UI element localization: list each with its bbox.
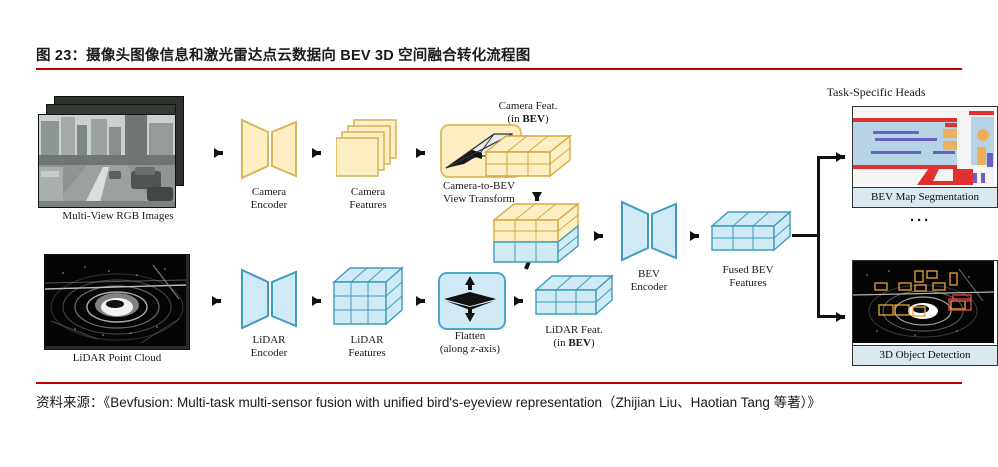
arrow-bev-encoder-to-fused bbox=[690, 231, 698, 241]
camera-bev-feature-slab bbox=[484, 134, 576, 184]
arrow-fusion-to-bev-encoder bbox=[594, 231, 602, 241]
label-multi-view-rgb-images: Multi-View RGB Images bbox=[36, 210, 200, 223]
heads-ellipsis: ··· bbox=[910, 212, 931, 229]
source-divider-rule bbox=[36, 382, 962, 384]
label-lidar-point-cloud: LiDAR Point Cloud bbox=[36, 352, 198, 365]
arrow-to-bev-map-segmentation bbox=[836, 152, 844, 162]
label-flatten: Flatten (along z-axis) bbox=[422, 330, 518, 355]
lidar-point-cloud-image bbox=[44, 254, 190, 350]
label-task-specific-heads: Task-Specific Heads bbox=[788, 86, 964, 99]
arrow-lidar-encoder-to-features bbox=[312, 296, 320, 306]
label-bev-encoder: BEV Encoder bbox=[612, 268, 686, 293]
arrow-to-3d-object-detection bbox=[836, 312, 844, 322]
fused-bev-features-slab bbox=[710, 210, 794, 258]
head-3d-object-detection: 3D Object Detection bbox=[852, 260, 998, 366]
caption-bev-map-segmentation: BEV Map Segmentation bbox=[853, 187, 997, 207]
camera-features-stack bbox=[336, 118, 402, 180]
head-bev-map-segmentation: BEV Map Segmentation bbox=[852, 106, 998, 208]
bev-encoder-icon bbox=[620, 200, 678, 262]
arrow-flatten-to-lidar-bev-feat bbox=[514, 296, 522, 306]
figure-page: 图 23：摄像头图像信息和激光雷达点云数据向 BEV 3D 空间融合转化流程图 bbox=[0, 0, 998, 467]
label-lidar-feat-in-bev: LiDAR Feat. (in BEV) bbox=[514, 324, 634, 349]
connector-stem bbox=[792, 234, 820, 237]
lidar-bev-feature-slab bbox=[534, 274, 616, 322]
arrow-camera-bev-feat-to-fusion bbox=[532, 192, 542, 201]
flow-diagram: Multi-View RGB Images Camera Encoder bbox=[36, 76, 962, 376]
label-camera-feat-in-bev: Camera Feat. (in BEV) bbox=[468, 100, 588, 125]
flatten-icon bbox=[438, 272, 506, 330]
fused-feature-cube bbox=[492, 202, 584, 268]
arrow-rgb-to-camera-encoder bbox=[214, 148, 222, 158]
caption-3d-object-detection: 3D Object Detection bbox=[853, 345, 997, 365]
lidar-encoder-icon bbox=[240, 268, 298, 330]
arrow-camera-features-to-transform bbox=[416, 148, 424, 158]
arrow-lidar-features-to-flatten bbox=[416, 296, 424, 306]
label-camera-encoder: Camera Encoder bbox=[232, 186, 306, 211]
camera-encoder-icon bbox=[240, 118, 298, 180]
lidar-features-cube bbox=[332, 266, 406, 330]
label-fused-bev-features: Fused BEV Features bbox=[700, 264, 796, 289]
arrow-camera-encoder-to-features bbox=[312, 148, 320, 158]
title-divider-rule bbox=[36, 68, 962, 70]
label-lidar-features: LiDAR Features bbox=[330, 334, 404, 359]
multi-view-rgb-images bbox=[38, 96, 198, 208]
arrow-pointcloud-to-lidar-encoder bbox=[212, 296, 220, 306]
figure-title: 图 23：摄像头图像信息和激光雷达点云数据向 BEV 3D 空间融合转化流程图 bbox=[36, 44, 956, 65]
label-camera-features: Camera Features bbox=[332, 186, 404, 211]
rgb-image-front bbox=[38, 114, 176, 208]
figure-source: 资料来源：《Bevfusion: Multi-task multi-sensor… bbox=[36, 390, 966, 416]
label-lidar-encoder: LiDAR Encoder bbox=[232, 334, 306, 359]
connector-spine bbox=[817, 156, 820, 318]
